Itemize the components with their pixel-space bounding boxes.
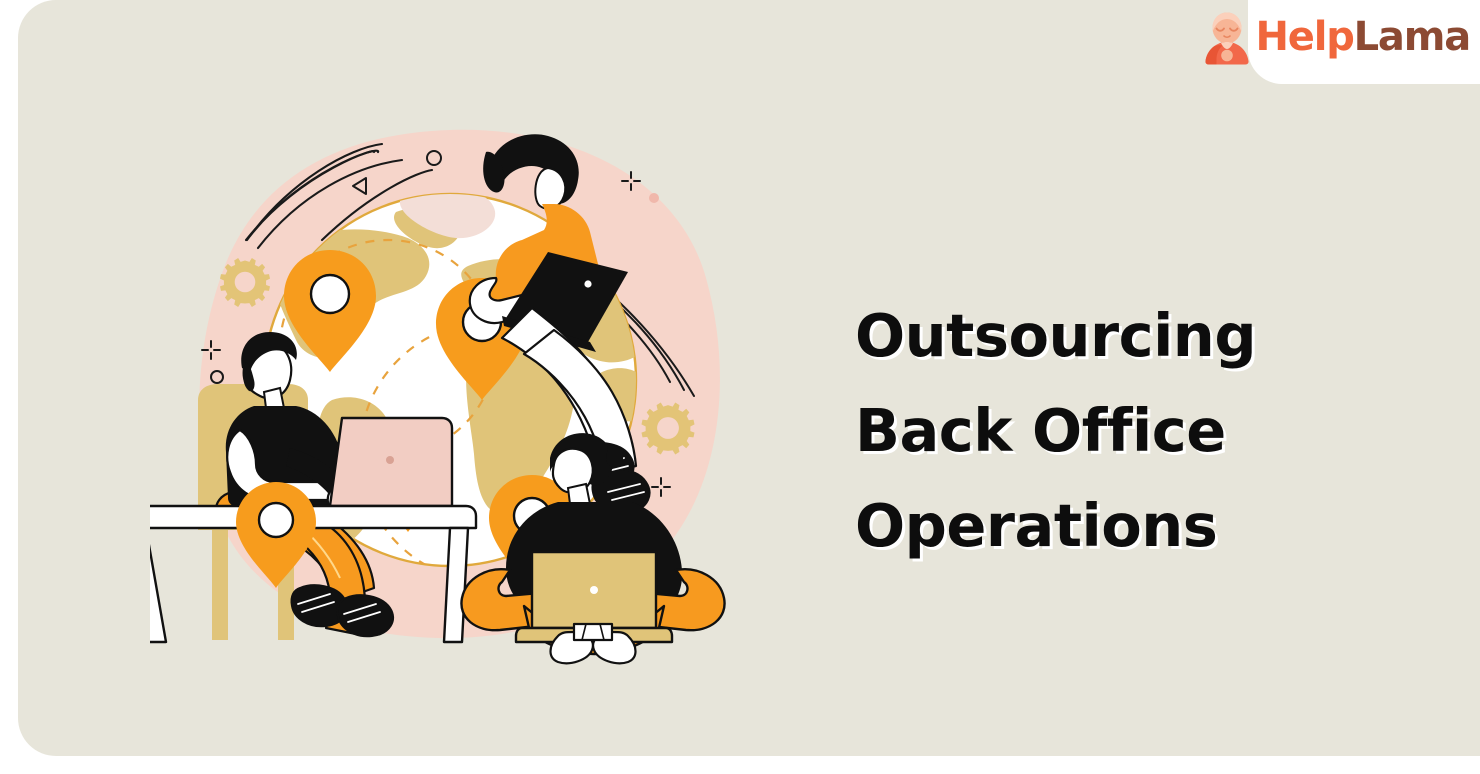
lama-monk-icon	[1201, 9, 1253, 65]
logo-text-help: Help	[1255, 14, 1353, 60]
global-outsourcing-team-illustration	[150, 100, 750, 670]
headline-line-1: Outsourcing	[855, 288, 1375, 383]
page-title: Outsourcing Back Office Operations	[855, 288, 1375, 573]
logo[interactable]: HelpLama	[1201, 6, 1470, 68]
logo-text: HelpLama	[1255, 17, 1470, 57]
headline-line-3: Operations	[855, 478, 1375, 573]
logo-text-lama: Lama	[1354, 14, 1470, 60]
headline-line-2: Back Office	[855, 383, 1375, 478]
small-pink-dot	[649, 193, 659, 203]
banner-root: Outsourcing Back Office Operations HelpL…	[0, 0, 1480, 774]
